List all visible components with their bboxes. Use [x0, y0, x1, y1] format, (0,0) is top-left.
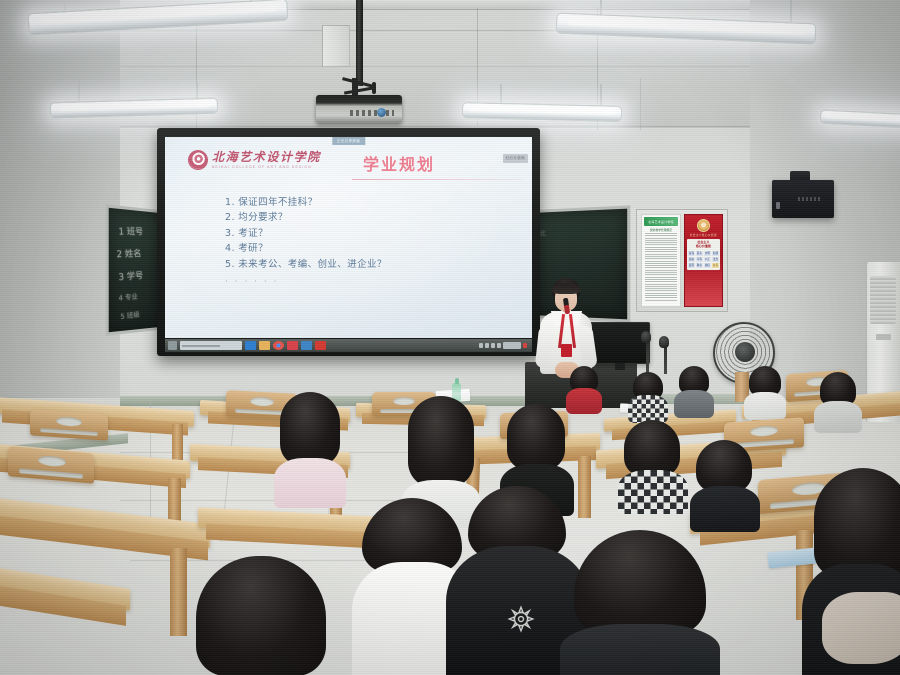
student: [620, 420, 686, 506]
taskbar-wps-icon[interactable]: [287, 341, 298, 350]
value-item: 法治: [712, 257, 719, 262]
logo-name-en: BEIHAI COLLEGE OF ART AND DESIGN: [212, 165, 321, 169]
screen-share-banner: 正在共享屏幕: [332, 137, 365, 145]
values-card-title: 社会主义核心价值观: [688, 241, 719, 249]
speaker-grill: [798, 197, 820, 201]
ac-vent: [870, 276, 896, 324]
chalk-text: 5 班级: [120, 311, 140, 323]
poster-regulations: 北海艺术设计学院 课堂教学管理规定: [641, 214, 681, 307]
chair-backrest-hole: [38, 455, 66, 467]
logo-name-cn: 北海艺术设计学院: [212, 151, 321, 163]
poster-body-lines: [644, 233, 678, 301]
chalk-text: 3 学号: [118, 270, 143, 284]
wall-panel-seam: [640, 78, 641, 130]
projector-pole: [356, 0, 363, 86]
poster-core-values: 社会主义核心价值观 社会主义核心价值观 富强 民主 文明 和谐 自由 平等 公正…: [684, 214, 723, 307]
bag-on-floor: [822, 592, 900, 664]
student-hair: [696, 440, 752, 492]
taskbar-clock[interactable]: [503, 342, 521, 349]
slideshow-tag: 幻灯片放映: [503, 154, 528, 163]
slide-bullet: 1. 保证四年不挂科？: [225, 195, 522, 210]
fan-hub: [735, 342, 755, 362]
projector-vents: [350, 110, 394, 116]
chalk-text: 4 专业: [118, 293, 138, 305]
microphone-head: [641, 331, 651, 343]
ceiling-duct: [322, 25, 350, 67]
ac-display: [876, 334, 891, 340]
value-item: 公正: [704, 257, 711, 262]
microphone-head: [659, 336, 669, 348]
classroom-photo: 1 班号 2 姓名 3 学号 4 专业 5 班级 北 正在共享屏幕 北海艺术设计…: [0, 0, 900, 675]
slide-bullet-ellipsis: · · · · · ·: [225, 275, 522, 290]
taskbar-search-input[interactable]: [180, 341, 242, 350]
chair-backrest-hole: [250, 396, 274, 406]
taskbar-chrome-icon[interactable]: [273, 341, 284, 350]
taskbar-system-tray[interactable]: [479, 342, 529, 349]
taskbar-pdf-icon[interactable]: [315, 341, 326, 350]
projector-lens: [377, 108, 386, 117]
chair-backrest-hole: [750, 425, 778, 437]
college-logo: 北海艺术设计学院 BEIHAI COLLEGE OF ART AND DESIG…: [188, 150, 321, 170]
student: [692, 440, 758, 522]
student-hair: [196, 556, 326, 675]
logo-swirl-icon: [185, 147, 210, 172]
windows-start-icon[interactable]: [168, 341, 177, 350]
student: [814, 372, 862, 430]
student: [274, 392, 346, 502]
student-foreground: [560, 530, 720, 675]
poster-emblem-caption: 社会主义核心价值观: [687, 233, 720, 237]
light-rod: [64, 0, 66, 10]
slide-title: 学业规划: [363, 151, 435, 175]
slide-bullet: 5. 未来考公、考编、创业、进企业？: [225, 257, 522, 272]
slide-bullet: 4. 考研？: [225, 241, 522, 256]
taskbar-file-explorer-icon[interactable]: [259, 341, 270, 350]
chair: [30, 409, 108, 440]
value-item: 友善: [712, 263, 719, 268]
value-item: 富强: [688, 251, 695, 256]
tray-icon[interactable]: [497, 343, 501, 348]
value-item: 敬业: [696, 263, 703, 268]
values-card: 社会主义核心价值观 富强 民主 文明 和谐 自由 平等 公正 法治 爱国 敬业 …: [687, 239, 720, 270]
title-divider: [352, 179, 522, 180]
value-item: 平等: [696, 257, 703, 262]
slide-bullet-list: 1. 保证四年不挂科？ 2. 均分要求？ 3. 考证？ 4. 考研？ 5. 未来…: [225, 195, 522, 289]
light-rod: [790, 0, 792, 22]
value-item: 爱国: [688, 263, 695, 268]
chair-backrest-slot: [19, 468, 83, 479]
windows-taskbar[interactable]: [165, 339, 532, 352]
desk-leg: [170, 548, 187, 636]
student-hair: [624, 420, 680, 476]
projected-slide: 正在共享屏幕 北海艺术设计学院 BEIHAI COLLEGE OF ART AN…: [165, 137, 532, 338]
chair-backrest-hole: [56, 416, 82, 427]
student-shirt: [560, 624, 720, 675]
light-rod: [78, 80, 80, 104]
presenter-hair-front: [552, 283, 580, 294]
student-shirt: [690, 486, 760, 532]
student-hair: [507, 404, 565, 470]
student-shirt: [674, 390, 714, 418]
student: [628, 372, 668, 418]
student-hair: [574, 530, 706, 634]
presenter-badge: [561, 344, 572, 357]
tray-icon[interactable]: [485, 343, 489, 348]
speaker-led: [776, 202, 780, 209]
ceiling-projector: [316, 95, 402, 123]
student-foreground: [196, 556, 326, 675]
interactive-whiteboard[interactable]: 正在共享屏幕 北海艺术设计学院 BEIHAI COLLEGE OF ART AN…: [157, 128, 540, 356]
student-shirt-checkered: [618, 470, 688, 514]
value-item: 文明: [704, 251, 711, 256]
tray-icon[interactable]: [479, 343, 483, 348]
wall-speaker: [772, 180, 834, 218]
value-item: 民主: [696, 251, 703, 256]
poster-title: 课堂教学管理规定: [644, 228, 678, 232]
poster-header-text: 北海艺术设计学院: [648, 220, 674, 224]
value-item: 诚信: [704, 263, 711, 268]
chalk-mark: 北: [539, 230, 546, 240]
emblem-icon: [697, 219, 710, 232]
tshirt-graphic-icon: [506, 604, 536, 634]
mic-stand: [646, 340, 649, 374]
student-hair-long: [408, 396, 474, 488]
taskbar-app-active-window[interactable]: [245, 341, 256, 350]
value-item: 和谐: [712, 251, 719, 256]
value-item: 自由: [688, 257, 695, 262]
light-rod: [600, 84, 602, 108]
poster-header: 北海艺术设计学院: [644, 217, 678, 226]
taskbar-media-icon[interactable]: [301, 341, 312, 350]
chalk-text: 1 班号: [118, 226, 143, 239]
chalk-text: 2 姓名: [116, 248, 141, 261]
slide-bullet: 3. 考证？: [225, 226, 522, 241]
student: [674, 366, 714, 414]
student-shirt: [274, 458, 346, 508]
chair-backrest-slot: [40, 428, 98, 436]
student-shirt-checkered: [628, 395, 668, 423]
slide-bullet: 2. 均分要求？: [225, 210, 522, 225]
mic-stand: [664, 344, 667, 374]
wall-poster-board: 北海艺术设计学院 课堂教学管理规定 社会主义核心价值观 社会主义核心价值观 富强…: [636, 209, 728, 312]
tray-icon[interactable]: [491, 343, 495, 348]
tray-notification-icon[interactable]: [523, 343, 527, 348]
student-hair: [280, 392, 340, 466]
student: [744, 366, 786, 416]
student-shirt: [814, 401, 862, 433]
values-grid: 富强 民主 文明 和谐 自由 平等 公正 法治 爱国 敬业 诚信 友善: [688, 251, 719, 268]
student-hair-long: [814, 468, 900, 578]
student-shirt: [744, 392, 786, 420]
